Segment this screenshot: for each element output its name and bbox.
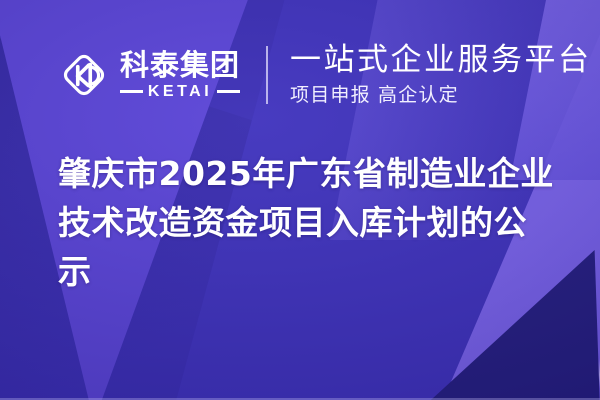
logo-wordmark: 科泰集团 KETAI xyxy=(120,50,240,99)
logo-rule-left xyxy=(120,90,143,93)
logo-rule-right xyxy=(217,90,240,93)
brand-header-row: 科泰集团 KETAI 一站式企业服务平台 项目申报 高企认定 xyxy=(58,40,592,110)
vertical-divider-icon xyxy=(266,46,268,104)
tagline-block: 一站式企业服务平台 项目申报 高企认定 xyxy=(290,42,592,108)
ketai-logo: 科泰集团 KETAI xyxy=(58,49,240,101)
banner-content: 科泰集团 KETAI 一站式企业服务平台 项目申报 高企认定 肇庆市2025年广… xyxy=(0,0,600,400)
page-title: 肇庆市2025年广东省制造业企业技术改造资金项目入库计划的公示 xyxy=(58,150,554,296)
promo-banner: 科泰集团 KETAI 一站式企业服务平台 项目申报 高企认定 肇庆市2025年广… xyxy=(0,0,600,400)
tagline-secondary: 项目申报 高企认定 xyxy=(290,83,592,108)
logo-company-name-latin: KETAI xyxy=(148,84,212,100)
ketai-diamond-kt-monogram-icon xyxy=(58,49,110,101)
tagline-primary: 一站式企业服务平台 xyxy=(290,42,592,79)
logo-latin-row: KETAI xyxy=(120,84,240,100)
logo-company-name-cn: 科泰集团 xyxy=(120,50,240,80)
